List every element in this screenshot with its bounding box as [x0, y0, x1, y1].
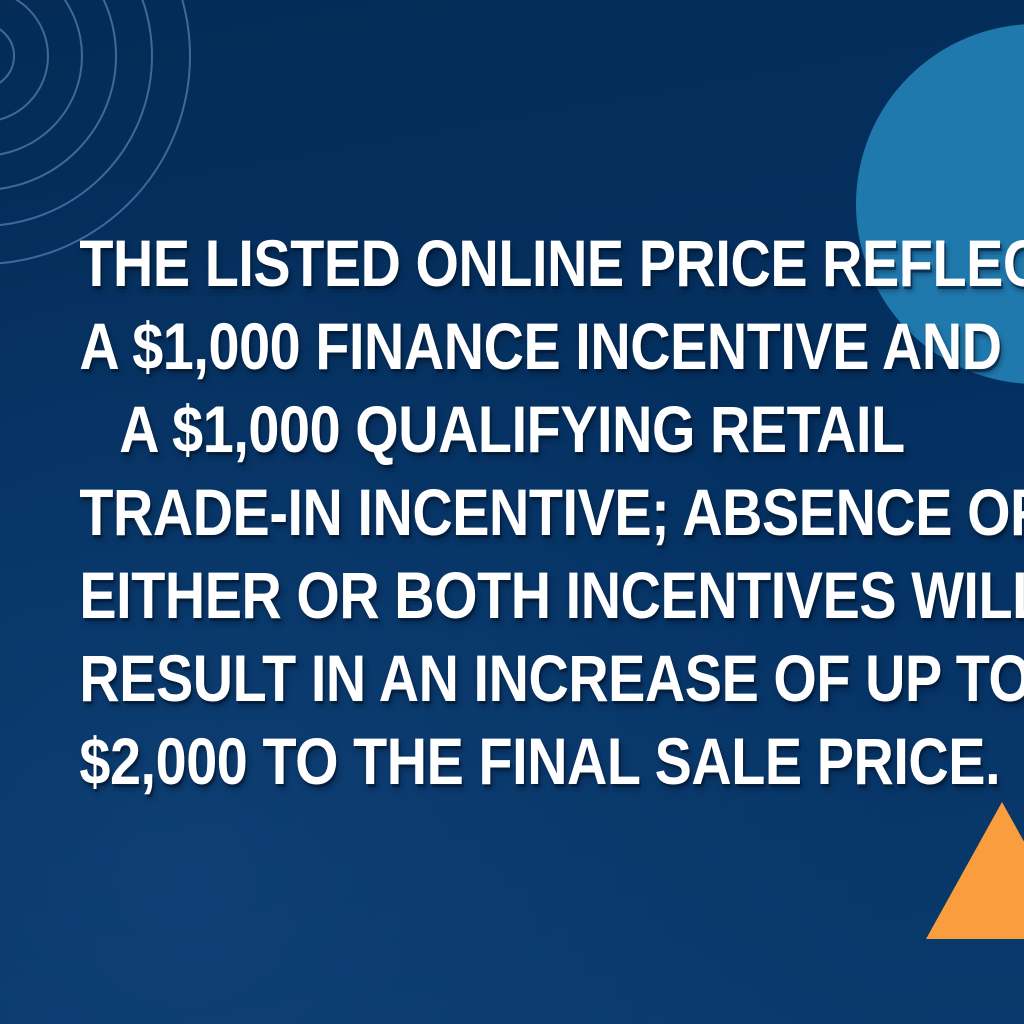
- disclaimer-line-7: $2,000 TO THE FINAL SALE PRICE.: [79, 720, 944, 803]
- disclaimer-line-1: THE LISTED ONLINE PRICE REFLECTS: [79, 222, 944, 305]
- disclaimer-headline: THE LISTED ONLINE PRICE REFLECTS A $1,00…: [0, 222, 1024, 803]
- disclaimer-line-6: RESULT IN AN INCREASE OF UP TO: [79, 637, 944, 720]
- disclaimer-line-3: A $1,000 QUALIFYING RETAIL: [79, 388, 944, 471]
- disclaimer-line-2: A $1,000 FINANCE INCENTIVE AND: [79, 305, 944, 388]
- disclaimer-line-5: EITHER OR BOTH INCENTIVES WILL: [79, 554, 944, 637]
- promotional-disclaimer-graphic: THE LISTED ONLINE PRICE REFLECTS A $1,00…: [0, 0, 1024, 1024]
- disclaimer-line-4: TRADE-IN INCENTIVE; ABSENCE OF: [79, 471, 944, 554]
